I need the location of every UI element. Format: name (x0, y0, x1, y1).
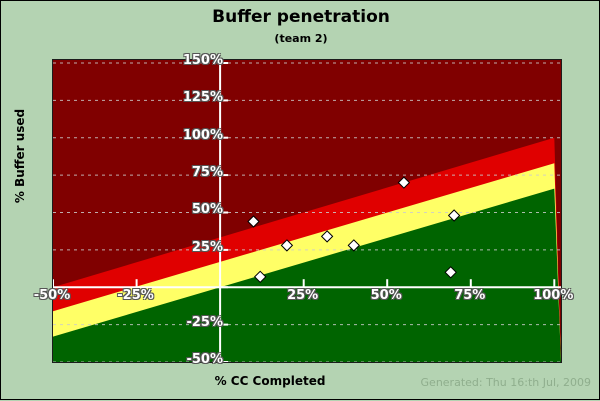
x-tick-label: 100% (518, 288, 588, 303)
x-tick-label: 50% (351, 288, 421, 303)
chart-window: Buffer penetration (team 2) % Buffer use… (0, 0, 600, 400)
x-tick-label: 75% (435, 288, 505, 303)
x-tick-label-layer: -50%-25%25%50%75%100% (1, 1, 600, 401)
x-tick-label: -50% (17, 288, 87, 303)
x-tick-label: 25% (268, 288, 338, 303)
x-tick-label: -25% (101, 288, 171, 303)
